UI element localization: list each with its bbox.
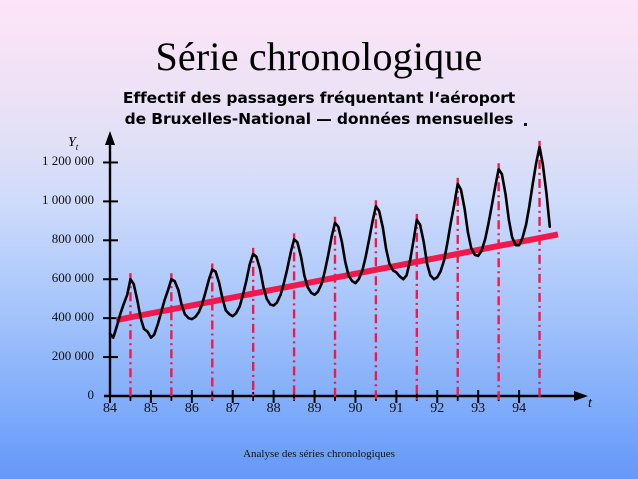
x-tick-label: 90: [340, 401, 370, 417]
chart-subtitle: Effectif des passagers fréquentant l‘aér…: [0, 88, 638, 130]
x-tick-label: 91: [381, 401, 411, 417]
x-tick-label: 84: [95, 401, 125, 417]
y-tick-label: 600 000: [8, 270, 94, 286]
chart-subtitle-line1: Effectif des passagers fréquentant l‘aér…: [123, 89, 515, 107]
y-tick-label: 1 000 000: [8, 192, 94, 208]
y-tick-label: 1 200 000: [8, 153, 94, 169]
y-tick-label: 800 000: [8, 231, 94, 247]
x-axis-arrow-icon: [574, 391, 588, 401]
x-tick-label: 88: [259, 401, 289, 417]
time-series-chart: [0, 125, 638, 425]
slide-footer: Analyse des séries chronologiques: [0, 448, 638, 460]
x-tick-label: 85: [136, 401, 166, 417]
x-tick-label: 93: [463, 401, 493, 417]
y-tick-label: 0: [8, 387, 94, 403]
x-tick-label: 89: [300, 401, 330, 417]
page-title: Série chronologique: [0, 34, 638, 80]
y-tick-label: 400 000: [8, 309, 94, 325]
seasonal-peak-markers: [130, 141, 539, 400]
x-tick-label: 94: [504, 401, 534, 417]
y-axis-arrow-icon: [105, 131, 115, 145]
x-tick-label: 92: [422, 401, 452, 417]
y-tick-label: 200 000: [8, 348, 94, 364]
slide-canvas: Série chronologique Effectif des passage…: [0, 0, 638, 479]
x-tick-label: 87: [218, 401, 248, 417]
x-tick-label: 86: [177, 401, 207, 417]
